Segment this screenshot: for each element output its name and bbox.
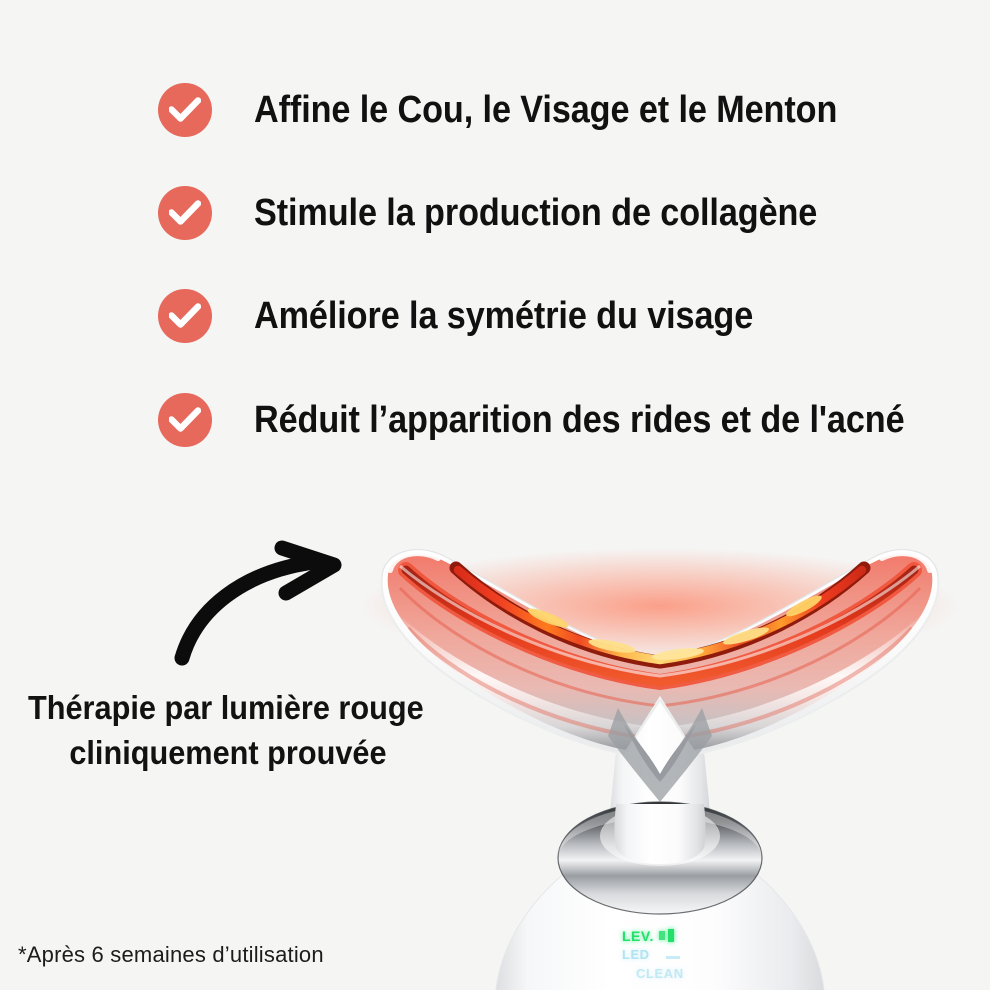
red-light-therapy-device-image [360,536,990,990]
product-benefits-graphic: Affine le Cou, le Visage et le Menton St… [0,0,990,990]
footnote-text: *Après 6 semaines d’utilisation [18,942,324,968]
red-light-caption: Thérapie par lumière rouge cliniquement … [28,686,428,775]
check-circle-icon [158,186,212,240]
benefit-item: Stimule la production de collagène [158,185,880,241]
benefit-item: Affine le Cou, le Visage et le Menton [158,82,902,138]
benefit-label: Améliore la symétrie du visage [254,297,753,335]
benefit-label: Stimule la production de collagène [254,194,817,232]
benefit-label: Affine le Cou, le Visage et le Menton [254,91,837,129]
check-circle-icon [158,393,212,447]
curved-arrow-right-icon [168,538,398,673]
check-circle-icon [158,83,212,137]
caption-line-1: Thérapie par lumière rouge [28,686,428,731]
check-circle-icon [158,289,212,343]
caption-line-2: cliniquement prouvée [28,731,428,776]
benefit-item: Améliore la symétrie du visage [158,288,809,344]
benefit-label: Réduit l’apparition des rides et de l'ac… [254,401,905,439]
benefit-item: Réduit l’apparition des rides et de l'ac… [158,392,977,448]
